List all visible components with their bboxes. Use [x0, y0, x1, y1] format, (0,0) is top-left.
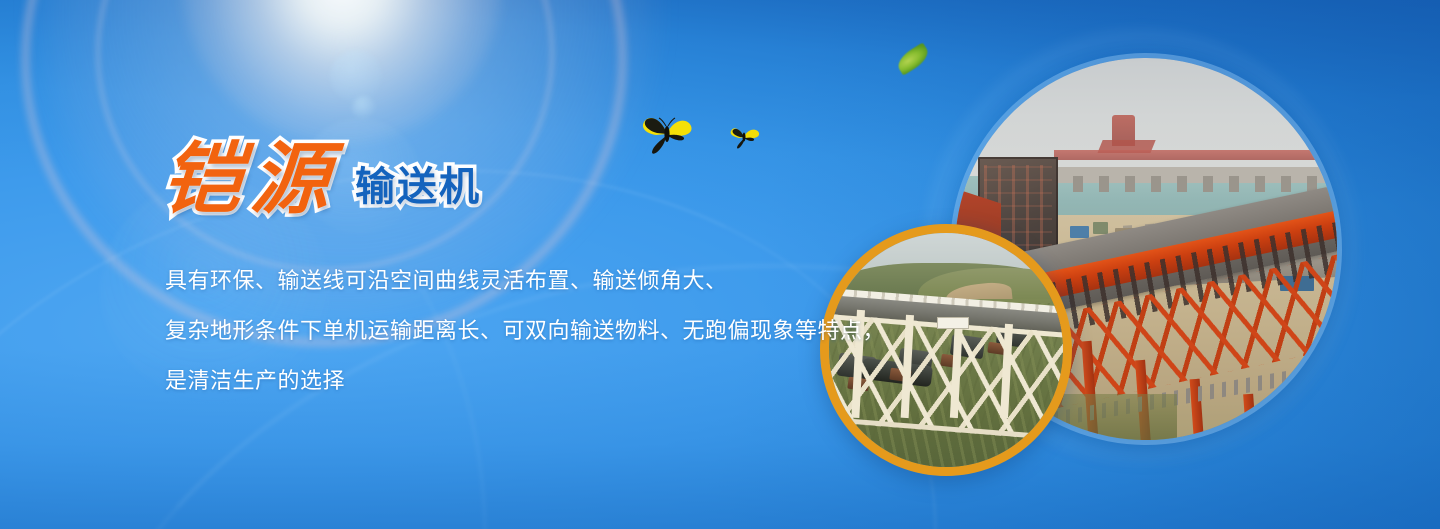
product-name: 输送机: [355, 167, 481, 217]
lens-flare-bubble-1: [330, 50, 382, 102]
description-line-2: 复杂地形条件下单机运输距离长、可双向输送物料、无跑偏现象等特点，: [165, 307, 865, 357]
brand-name: 铠源: [160, 143, 341, 217]
hero-banner: 铠源 输送机 具有环保、输送线可沿空间曲线灵活布置、输送倾角大、 复杂地形条件下…: [0, 0, 1440, 529]
description-line-3: 是清洁生产的选择: [165, 357, 865, 407]
lens-flare-bubble-2: [352, 96, 376, 120]
butterfly-small-icon: [729, 124, 761, 150]
description-line-1: 具有环保、输送线可沿空间曲线灵活布置、输送倾角大、: [165, 257, 865, 307]
butterfly-large-icon: [639, 110, 699, 158]
brand-title-block: 铠源 输送机: [163, 143, 481, 217]
description-block: 具有环保、输送线可沿空间曲线灵活布置、输送倾角大、 复杂地形条件下单机运输距离长…: [165, 257, 865, 407]
